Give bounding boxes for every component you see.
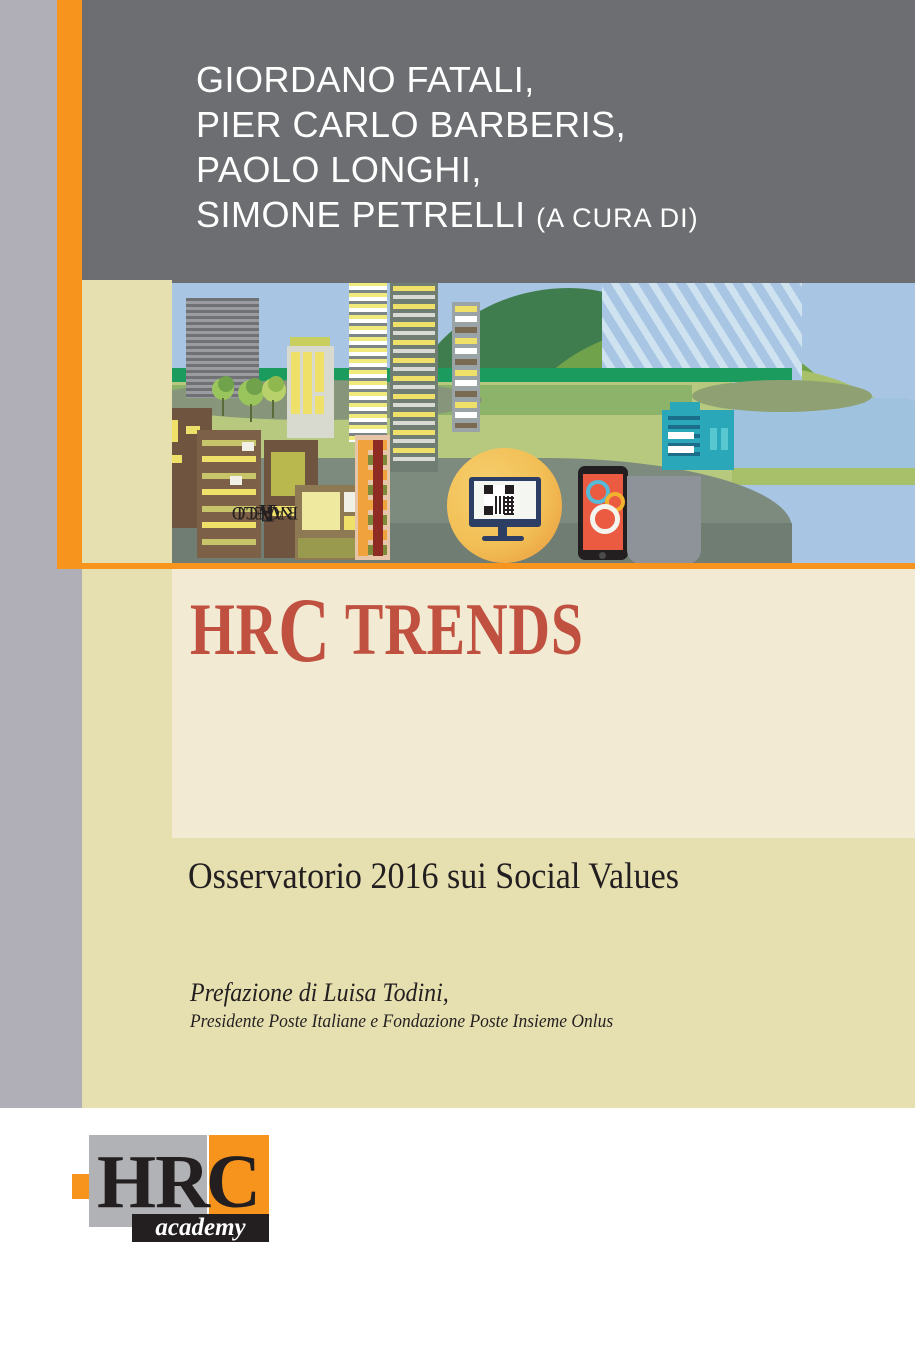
building-window-col-c bbox=[315, 352, 324, 392]
building-tan-low-base bbox=[298, 538, 360, 558]
building-brown-left-win3 bbox=[172, 455, 182, 463]
publisher-logotype: FRANCOANGELI bbox=[82, 280, 172, 580]
building-brown-left-win1 bbox=[172, 420, 178, 442]
book-subtitle: Osservatorio 2016 sui Social Values bbox=[188, 855, 679, 898]
monitor-base bbox=[482, 536, 524, 541]
building-teal-white-win bbox=[668, 432, 694, 439]
cover-artwork: GIORDANO FATALI, PIER CARLO BARBERIS, PA… bbox=[0, 0, 915, 1108]
illustration-top-shadow bbox=[172, 280, 915, 283]
building-striped-tower-1 bbox=[349, 282, 387, 442]
smartphone-gear-icon-3 bbox=[590, 504, 620, 534]
building-window-col-d bbox=[315, 396, 324, 414]
tree-1-trunk bbox=[222, 398, 224, 416]
tree-2-trunk bbox=[250, 404, 252, 422]
building-teal-white-win2 bbox=[668, 446, 694, 453]
building-brown-main-white-win bbox=[242, 442, 254, 451]
title-trends: TRENDS bbox=[331, 589, 584, 671]
author-line-4-name: SIMONE PETRELLI bbox=[196, 194, 536, 235]
building-teal-top bbox=[670, 402, 700, 412]
author-line-1: GIORDANO FATALI, bbox=[196, 57, 896, 102]
plaza-ellipse-right bbox=[692, 380, 872, 412]
title-hr: HR bbox=[190, 589, 278, 671]
qr-code-icon bbox=[484, 485, 514, 515]
building-teal-bar2 bbox=[721, 428, 728, 450]
green-hedge-band bbox=[172, 368, 792, 382]
building-brown-main-white-win2 bbox=[230, 476, 242, 485]
author-line-4: SIMONE PETRELLI (A CURA DI) bbox=[196, 192, 896, 241]
left-gray-strip-lower bbox=[57, 568, 82, 1108]
publisher-name-ngeli: NGELI bbox=[115, 501, 415, 523]
smartphone-home-button bbox=[599, 552, 606, 559]
tree-1-dark bbox=[218, 376, 234, 392]
editor-note: (A CURA DI) bbox=[536, 203, 699, 233]
book-title: HRC TRENDS bbox=[190, 593, 584, 667]
building-tile-tower-windows bbox=[455, 306, 477, 428]
author-line-2: PIER CARLO BARBERIS, bbox=[196, 102, 896, 147]
left-gray-strip bbox=[0, 0, 57, 1108]
preface-author-line: Prefazione di Luisa Todini, bbox=[190, 978, 449, 1008]
smartphone-shadow bbox=[627, 476, 701, 563]
building-window-col-a bbox=[291, 352, 300, 414]
tree-3-dark bbox=[268, 376, 284, 392]
preface-role-line: Presidente Poste Italiane e Fondazione P… bbox=[190, 1011, 613, 1033]
tree-2-dark bbox=[246, 378, 263, 395]
title-c: C bbox=[278, 579, 331, 681]
hrc-academy-logo: HR C academy bbox=[72, 1135, 287, 1245]
building-teal-bar1 bbox=[710, 428, 717, 450]
building-striped-tower-2-stripes bbox=[393, 286, 435, 466]
building-yellow-windows-cap bbox=[290, 337, 330, 346]
building-brown-main-windows bbox=[202, 440, 256, 550]
tree-3-trunk bbox=[272, 400, 274, 418]
authors-block: GIORDANO FATALI, PIER CARLO BARBERIS, PA… bbox=[196, 57, 896, 241]
left-orange-strip bbox=[57, 0, 82, 568]
logo-academy-tagline: academy bbox=[132, 1212, 269, 1242]
building-window-col-b bbox=[303, 352, 312, 414]
book-cover-page: GIORDANO FATALI, PIER CARLO BARBERIS, PA… bbox=[0, 0, 915, 1359]
author-line-3: PAOLO LONGHI, bbox=[196, 147, 896, 192]
